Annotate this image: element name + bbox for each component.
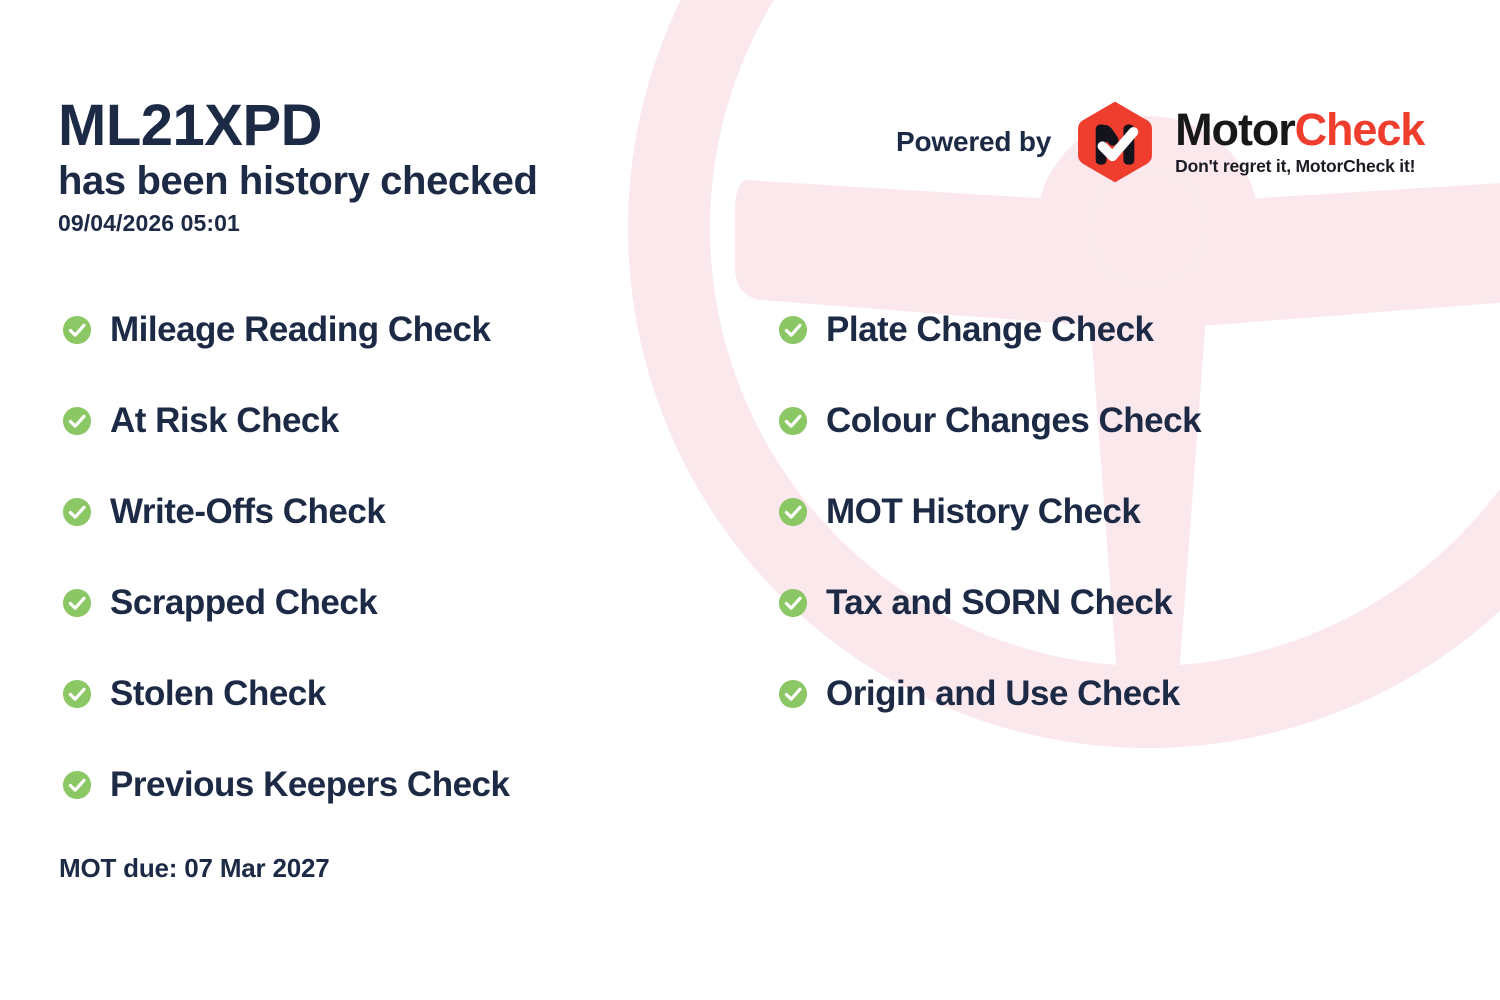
motorcheck-hexagon-icon [1073, 100, 1157, 184]
check-label: Stolen Check [110, 674, 326, 714]
list-item: Stolen Check [62, 670, 509, 718]
list-item: Mileage Reading Check [62, 306, 509, 354]
check-circle-icon [62, 770, 92, 800]
mot-due-text: MOT due: 07 Mar 2027 [59, 853, 330, 884]
powered-by-block: Powered by MotorCheck Don't regret it, M… [896, 100, 1424, 184]
history-check-card: ML21XPD has been history checked 09/04/2… [0, 0, 1500, 1000]
check-label: Colour Changes Check [826, 401, 1201, 441]
check-circle-icon [62, 679, 92, 709]
check-circle-icon [778, 588, 808, 618]
page-subtitle: has been history checked [58, 158, 758, 204]
check-circle-icon [62, 588, 92, 618]
check-label: Origin and Use Check [826, 674, 1180, 714]
check-label: Previous Keepers Check [110, 765, 509, 805]
check-circle-icon [778, 315, 808, 345]
checks-column-left: Mileage Reading Check At Risk Check Writ… [62, 306, 509, 852]
list-item: Previous Keepers Check [62, 761, 509, 809]
list-item: Write-Offs Check [62, 488, 509, 536]
list-item: Origin and Use Check [778, 670, 1201, 718]
check-label: Tax and SORN Check [826, 583, 1172, 623]
check-circle-icon [778, 406, 808, 436]
list-item: Scrapped Check [62, 579, 509, 627]
list-item: At Risk Check [62, 397, 509, 445]
check-circle-icon [62, 315, 92, 345]
check-circle-icon [778, 679, 808, 709]
header-block: ML21XPD has been history checked 09/04/2… [58, 96, 758, 237]
brand-name-first: Motor [1175, 104, 1294, 155]
list-item: Plate Change Check [778, 306, 1201, 354]
list-item: Colour Changes Check [778, 397, 1201, 445]
brand-name-second: Check [1295, 104, 1425, 155]
brand-tagline: Don't regret it, MotorCheck it! [1175, 156, 1424, 177]
powered-by-label: Powered by [896, 126, 1051, 158]
check-circle-icon [62, 406, 92, 436]
check-circle-icon [62, 497, 92, 527]
checks-column-right: Plate Change Check Colour Changes Check … [778, 306, 1201, 761]
list-item: MOT History Check [778, 488, 1201, 536]
page-title: ML21XPD [58, 96, 758, 156]
check-label: Plate Change Check [826, 310, 1154, 350]
check-timestamp: 09/04/2026 05:01 [58, 210, 758, 237]
check-label: Mileage Reading Check [110, 310, 490, 350]
check-label: Write-Offs Check [110, 492, 385, 532]
check-circle-icon [778, 497, 808, 527]
check-label: MOT History Check [826, 492, 1140, 532]
check-label: At Risk Check [110, 401, 339, 441]
brand-wordmark: MotorCheck Don't regret it, MotorCheck i… [1175, 107, 1424, 177]
check-label: Scrapped Check [110, 583, 377, 623]
brand-name: MotorCheck [1175, 107, 1424, 152]
list-item: Tax and SORN Check [778, 579, 1201, 627]
